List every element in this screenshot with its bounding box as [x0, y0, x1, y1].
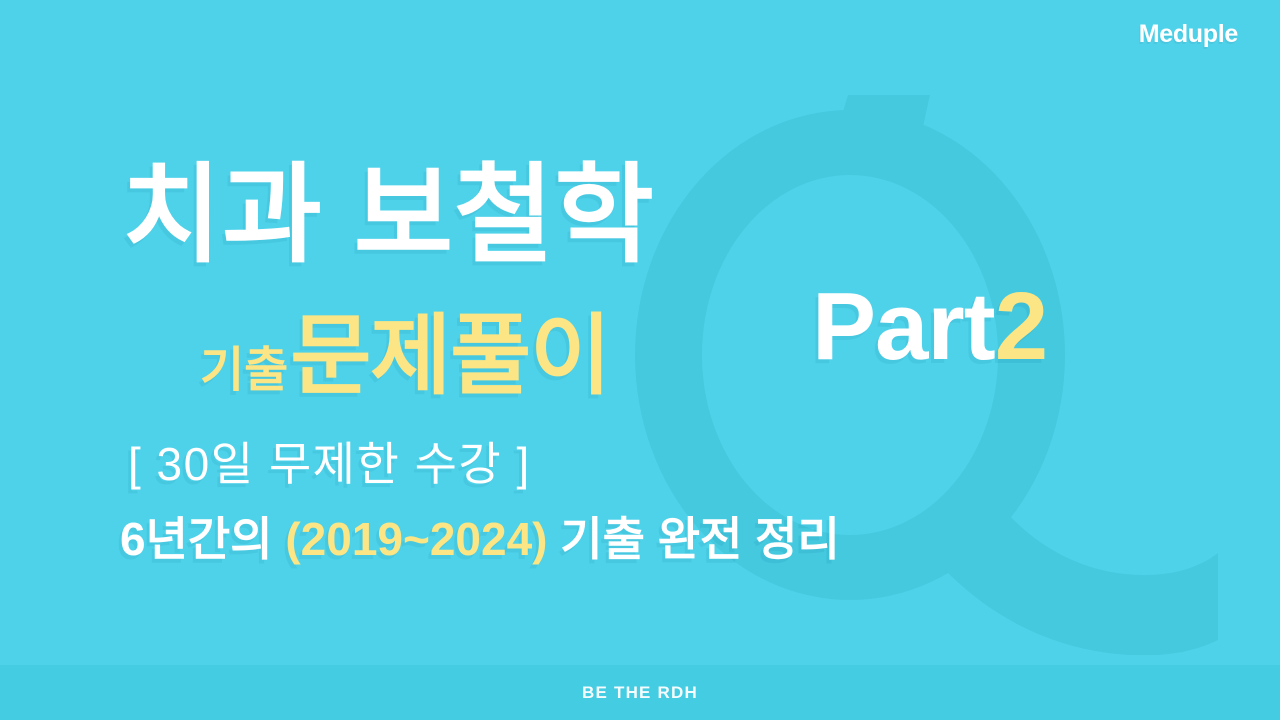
subtitle-group: 기출 문제풀이	[200, 285, 610, 412]
subtitle-small-label: 기출	[200, 330, 288, 400]
coverage-year-range-label: (2019~2024)	[285, 513, 547, 565]
coverage-suffix-label: 기출 완전 정리	[548, 513, 840, 565]
coverage-prefix-label: 6년간의	[120, 513, 285, 565]
part-badge: Part2	[812, 272, 1047, 382]
coverage-line: 6년간의 (2019~2024) 기출 완전 정리	[120, 503, 840, 569]
promo-banner: Meduple 치과 보철학 기출 문제풀이 Part2 [ 30일 무제한 수…	[0, 0, 1280, 720]
page-title: 치과 보철학	[122, 158, 655, 271]
hero-content: 치과 보철학 기출 문제풀이 Part2 [ 30일 무제한 수강 ] 6년간의…	[0, 0, 1280, 665]
part-word-label: Part	[812, 273, 995, 380]
access-duration-label: [ 30일 무제한 수강 ]	[128, 428, 531, 494]
footer-bar: BE THE RDH	[0, 665, 1280, 720]
subtitle-large-label: 문제풀이	[290, 285, 610, 412]
part-number-label: 2	[995, 273, 1047, 380]
footer-tagline: BE THE RDH	[582, 683, 698, 703]
